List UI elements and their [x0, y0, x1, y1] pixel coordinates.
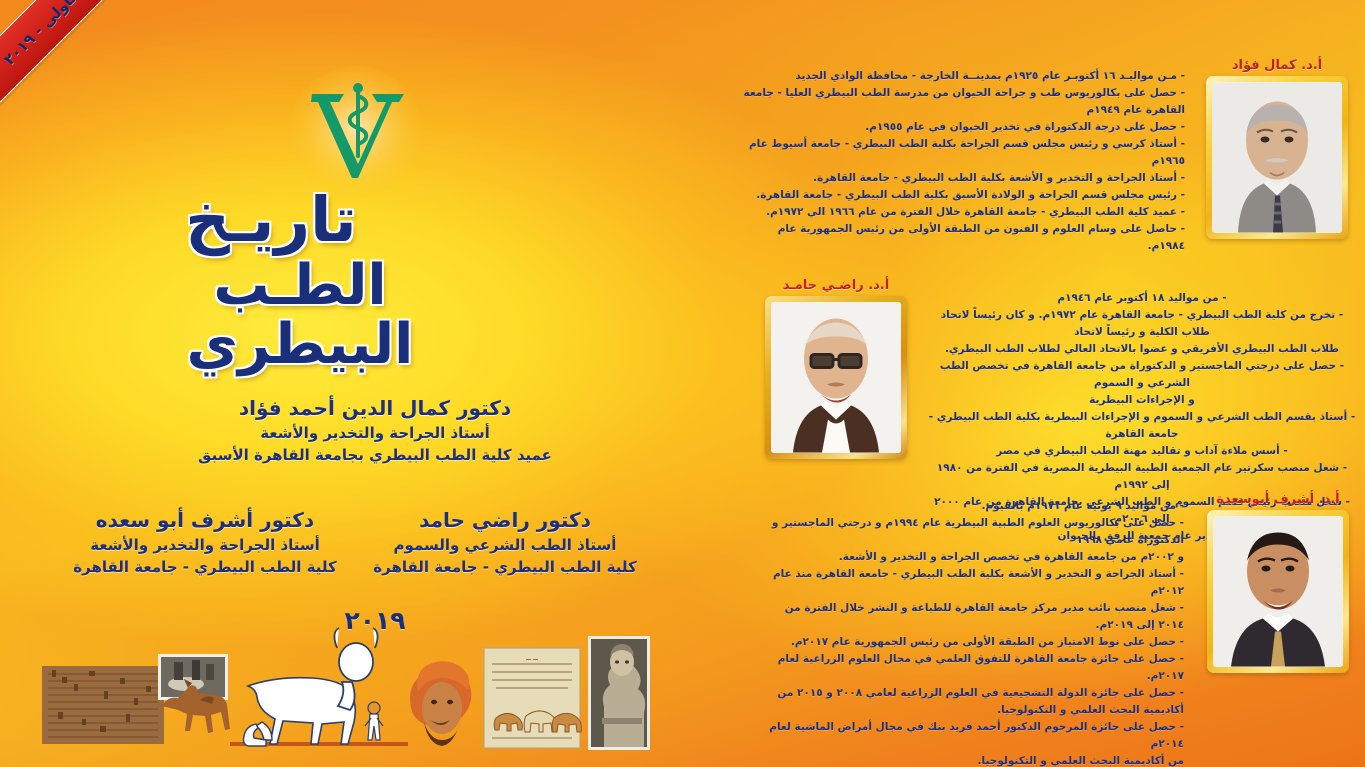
- ancient-statue-photograph: [588, 636, 650, 750]
- author-secondary-right-affiliation: كلية الطب البيطري - جامعة القاهرة: [355, 558, 655, 576]
- profile-photo-column: أ.د. أشرف أبوسعدة: [1198, 492, 1358, 673]
- profile-name-label: أ.د. أشرف أبوسعدة: [1216, 492, 1339, 507]
- edition-ribbon: الطبعة الأولى - ٢٠١٩: [0, 0, 195, 142]
- bio-line: - عميد كلية الطب البيطري - جامعة القاهرة…: [742, 204, 1185, 221]
- author-secondary-right-name: دكتور راضي حامد: [355, 508, 655, 532]
- title-line-1: تاريـخ: [40, 188, 502, 251]
- profile-photo-frame: [1206, 76, 1348, 239]
- bio-line: - أستاذ الجراحة و التخدير و الأشعة بكلية…: [768, 566, 1184, 600]
- author-secondary-left: دكتور أشرف أبو سعده أستاذ الجراحة والتخد…: [55, 508, 355, 576]
- hieroglyphic-papyrus: [42, 666, 164, 744]
- bio-line: طلاب الطب البيطري الأفريقي و عضوا بالاتح…: [928, 341, 1356, 358]
- author-primary: دكتور كمال الدين أحمد فؤاد أستاذ الجراحة…: [125, 396, 625, 464]
- bio-line: - شغل منصب نائب مدير مركز جامعة القاهرة …: [768, 600, 1184, 634]
- historical-illustration-strip: ــ ــ: [34, 626, 664, 761]
- bio-line: - حصل على جائزة المرحوم الدكتور أحمد فري…: [768, 719, 1184, 753]
- title-line-3: البيطري: [40, 316, 560, 373]
- bio-line: و ٢٠٠٢م من جامعة القاهرة في تخصص الجراحة…: [768, 549, 1184, 566]
- page-title: تاريـخ الطـب البيطري: [40, 188, 560, 373]
- bio-line: - حصل على جائزة الدولة التشجيعية في العل…: [768, 685, 1184, 719]
- author-secondary-right-role: أستاذ الطب الشرعي والسموم: [355, 536, 655, 554]
- bio-line: - تخرج من كلية الطب البيطري - جامعة القا…: [928, 307, 1356, 341]
- bio-line: - أستاذ بقسم الطب الشرعي و السموم و الإج…: [928, 409, 1356, 443]
- book-cover: الطبعة الأولى - ٢٠١٩: [0, 0, 1365, 767]
- author-secondary-right: دكتور راضي حامد أستاذ الطب الشرعي والسمو…: [355, 508, 655, 576]
- portrait-kamal-fouad: [1212, 82, 1342, 233]
- bio-line: - أستاذ كرسي و رئيس مجلس قسم الجراحة بكل…: [742, 136, 1185, 170]
- profile-photo-column: أ.د. كمال فؤاد: [1197, 58, 1357, 239]
- svg-text:ــ ــ: ــ ــ: [525, 653, 539, 662]
- bio-line: - أستاذ الجراحة و التخدير و الأشعة بكلية…: [742, 170, 1185, 187]
- bio-line: - أسس ملاءة آداب و تقاليد مهنة الطب البي…: [928, 443, 1356, 460]
- profile-name-label: أ.د. راضـي حامـد: [783, 278, 889, 293]
- author-secondary-left-role: أستاذ الجراحة والتخدير والأشعة: [55, 536, 355, 554]
- bio-line: من أكاديمية البحث العلمي و التكنولوجيا.: [768, 753, 1184, 767]
- profile-bio: - مـن مواليـد ١٦ أكتوبـر عام ١٩٢٥م بمدين…: [742, 58, 1185, 255]
- title-line-2: الطـب: [40, 257, 560, 314]
- bio-line: و الإجراءات البيطرية: [928, 392, 1356, 409]
- bio-line: - من مواليد ١٨ أكتوبر عام ١٩٤٦م: [928, 290, 1356, 307]
- edition-ribbon-label: الطبعة الأولى - ٢٠١٩: [0, 0, 122, 69]
- author-primary-role: أستاذ الجراحة والتخدير والأشعة: [125, 424, 625, 442]
- bio-line: - حصل على درجتي الماجستير و الدكتوراة من…: [928, 358, 1356, 392]
- bio-line: - حصل على درجة الدكتوراة في تخدير الحيوا…: [742, 119, 1185, 136]
- bio-line: - من مواليد ٩ يونية عام ١٩٧١م بالفيوم.: [768, 498, 1184, 515]
- author-primary-affiliation: عميد كلية الطب البيطري بجامعة القاهرة ال…: [125, 446, 625, 464]
- bio-line: - حاصل على وسام العلوم و الفنون من الطبق…: [742, 221, 1185, 255]
- profile-panel-ashraf-abusaada: أ.د. أشرف أبوسعدة: [768, 492, 1358, 767]
- bio-line: - حصل على بكالوريوس طب و جراحة الحيوان م…: [742, 85, 1185, 119]
- profile-panel-kamal-fouad: أ.د. كمال فؤاد: [742, 58, 1357, 255]
- profile-bio: - من مواليد ٩ يونية عام ١٩٧١م بالفيوم. -…: [768, 492, 1184, 767]
- bio-line: - رئيس مجلس قسم الجراحة و الولادة الأسبق…: [742, 187, 1185, 204]
- ancient-egyptian-bull-milking-scene: [230, 628, 408, 746]
- arabic-manuscript-with-sheep: ــ ــ: [484, 648, 581, 748]
- bio-line: - حصل على بكالوريوس العلوم الطبية البيطر…: [768, 515, 1184, 549]
- profile-photo-column: أ.د. راضـي حامـد: [756, 278, 916, 459]
- bio-line: - مـن مواليـد ١٦ أكتوبـر عام ١٩٢٥م بمدين…: [742, 68, 1185, 85]
- author-secondary-left-affiliation: كلية الطب البيطري - جامعة القاهرة: [55, 558, 355, 576]
- portrait-radi-hamed: [771, 302, 901, 453]
- portrait-ashraf-abusaada: [1213, 516, 1343, 667]
- profile-photo-frame: [765, 296, 907, 459]
- profile-photo-frame: [1207, 510, 1349, 673]
- turbaned-scholar-portrait: [410, 661, 471, 746]
- bio-line: - حصل على جائزة جامعة القاهرة للتفوق الع…: [768, 651, 1184, 685]
- bio-line: - حصل على نوط الامتياز من الطبقة الأولى …: [768, 634, 1184, 651]
- author-primary-name: دكتور كمال الدين أحمد فؤاد: [125, 396, 625, 420]
- profile-name-label: أ.د. كمال فؤاد: [1232, 58, 1322, 73]
- bio-line: - شغل منصب سكرتير عام الجمعية الطبية الب…: [928, 460, 1356, 494]
- author-secondary-left-name: دكتور أشرف أبو سعده: [55, 508, 355, 532]
